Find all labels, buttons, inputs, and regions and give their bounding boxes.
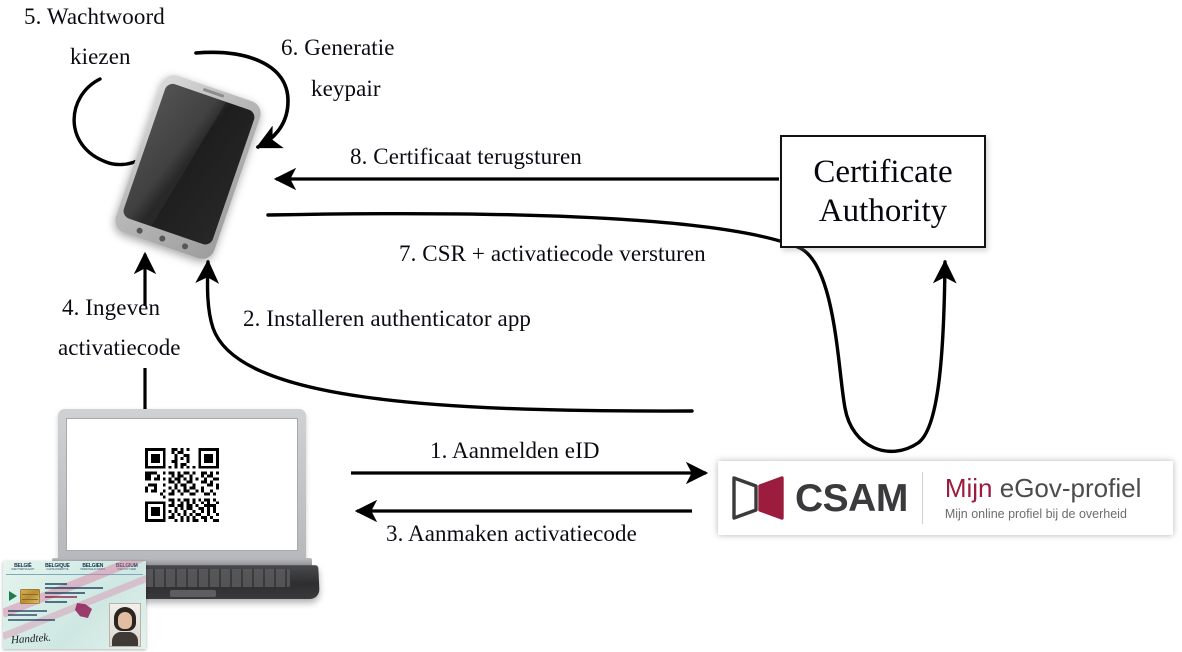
smartphone-screen-gloss <box>121 82 230 247</box>
label-step-2: 2. Installeren authenticator app <box>243 304 531 334</box>
eid-card-node[interactable]: BELGIË IDENTITEITSKAART BELGIQUE CARTE D… <box>3 561 146 649</box>
csam-tagline-mijn: Mijn <box>945 473 993 503</box>
eid-country-subtitle: IDENTITEITSKAART <box>11 569 34 572</box>
label-step-4-line1: 4. Ingeven <box>62 293 160 323</box>
csam-tagline: Mijn eGov-profiel <box>945 475 1142 502</box>
eid-country-be: BELGIË IDENTITEITSKAART <box>11 564 34 572</box>
csam-wordmark: CSAM <box>795 479 908 518</box>
eid-card-signature: Handtek. <box>11 632 52 647</box>
label-step-8: 8. Certificaat terugsturen <box>350 142 582 172</box>
csam-node[interactable]: CSAM Mijn eGov-profiel Mijn online profi… <box>718 461 1173 535</box>
eid-card-flag-icon <box>9 591 17 601</box>
smartphone-button-menu <box>181 243 189 251</box>
diagram-canvas: 5. Wachtwoord kiezen 6. Generatie keypai… <box>0 0 1182 652</box>
laptop-lid <box>58 409 306 561</box>
eid-country-subtitle: CARTE D'IDENTITÉ <box>45 569 70 572</box>
csam-subtitle: Mijn online profiel bij de overheid <box>945 507 1142 521</box>
csam-bowtie-icon <box>730 475 786 521</box>
certificate-authority-node[interactable]: Certificate Authority <box>780 135 986 248</box>
smartphone-button-back <box>136 227 144 235</box>
certificate-authority-line2: Authority <box>819 192 947 231</box>
eid-card-rule <box>6 574 143 575</box>
csam-tagline-block: Mijn eGov-profiel Mijn online profiel bi… <box>923 461 1142 535</box>
smartphone-button-home <box>158 235 166 243</box>
eid-card-data-lines <box>45 583 111 605</box>
smartphone-screen <box>121 82 256 247</box>
label-step-5-line2: kiezen <box>70 42 131 72</box>
csam-tagline-egov: eGov-profiel <box>993 473 1142 503</box>
eid-card-photo <box>109 603 141 647</box>
eid-card-map-icon <box>75 603 92 618</box>
smartphone-body <box>112 72 264 263</box>
smartphone-node[interactable] <box>112 72 264 263</box>
label-step-5-line1: 5. Wachtwoord <box>24 2 165 32</box>
eid-card-data-lines-secondary <box>8 610 64 623</box>
arrow-step-2 <box>208 262 692 411</box>
label-step-4-line2: activatiecode <box>58 333 181 363</box>
laptop-touchpad <box>170 590 216 597</box>
qr-code-icon <box>145 448 219 522</box>
certificate-authority-line1: Certificate <box>813 153 952 192</box>
label-step-6-line1: 6. Generatie <box>281 33 395 63</box>
eid-country-fr: BELGIQUE CARTE D'IDENTITÉ <box>45 564 70 572</box>
eid-card-chip-icon <box>20 589 40 604</box>
laptop-screen <box>66 418 298 551</box>
csam-logo: CSAM <box>718 461 922 535</box>
label-step-3: 3. Aanmaken activatiecode <box>386 519 637 549</box>
arrow-step-5 <box>74 79 137 165</box>
label-step-1: 1. Aanmelden eID <box>430 436 600 466</box>
label-step-6-line2: keypair <box>311 74 381 104</box>
label-step-7: 7. CSR + activatiecode versturen <box>399 239 706 269</box>
